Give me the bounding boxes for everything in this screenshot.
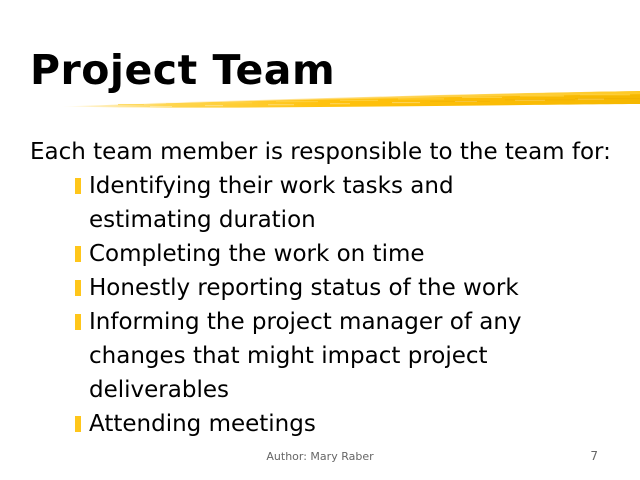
list-item: Informing the project manager of any cha…	[30, 305, 620, 407]
slide: Project Team	[0, 0, 640, 480]
bullet-marker-icon	[75, 246, 81, 262]
bullet-list: Identifying their work tasks and estimat…	[30, 169, 620, 441]
list-item-label: Identifying their work tasks and estimat…	[89, 169, 569, 237]
list-item-label: Honestly reporting status of the work	[89, 271, 569, 305]
bullet-marker-icon	[75, 314, 81, 330]
page-number: 7	[590, 449, 598, 463]
page-title: Project Team	[30, 48, 610, 92]
bullet-marker-icon	[75, 178, 81, 194]
list-item: Completing the work on time	[30, 237, 620, 271]
list-item: Identifying their work tasks and estimat…	[30, 169, 620, 237]
list-item: Honestly reporting status of the work	[30, 271, 620, 305]
bullet-marker-icon	[75, 416, 81, 432]
lead-line: Each team member is responsible to the t…	[30, 136, 620, 169]
list-item: Attending meetings	[30, 407, 620, 441]
footer-author: Author: Mary Raber	[0, 450, 640, 463]
list-item-label: Completing the work on time	[89, 237, 569, 271]
slide-body: Each team member is responsible to the t…	[30, 136, 620, 441]
bullet-marker-icon	[75, 280, 81, 296]
list-item-label: Attending meetings	[89, 407, 569, 441]
list-item-label: Informing the project manager of any cha…	[89, 305, 569, 407]
